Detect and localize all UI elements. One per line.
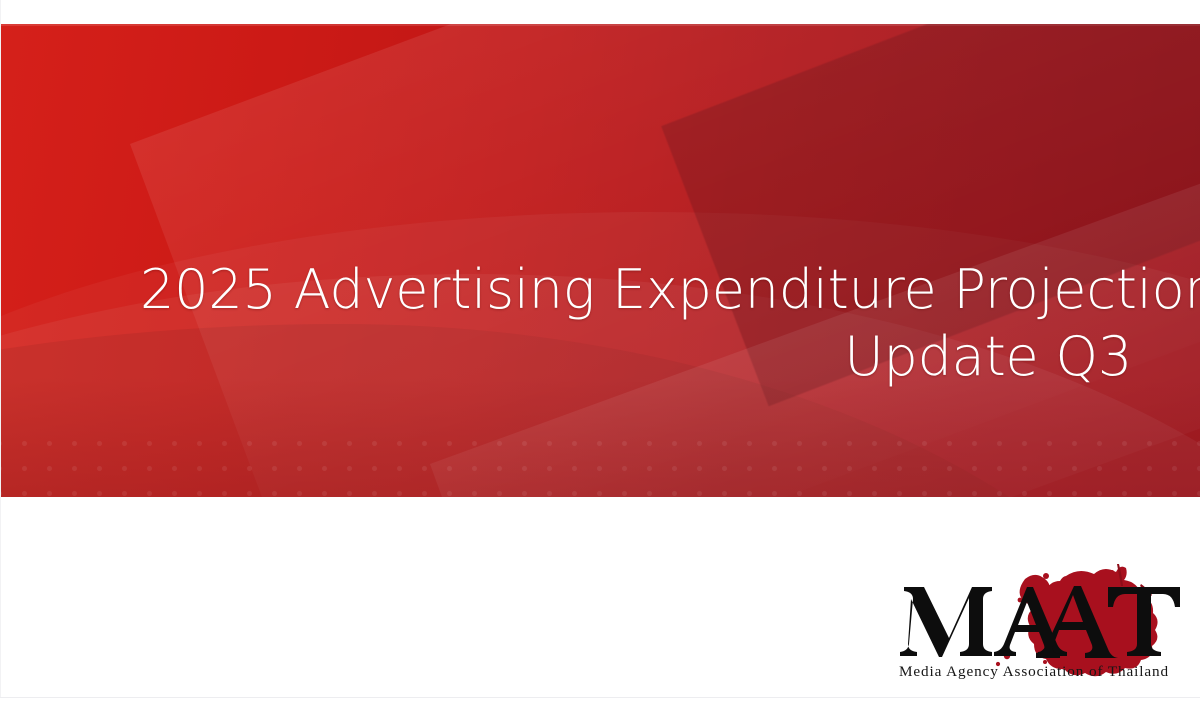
ink-splatter: [996, 564, 1158, 676]
slide-bottom-edge: [0, 697, 1200, 698]
slide-canvas: 2025 Advertising Expenditure Projection …: [0, 0, 1200, 720]
banner-dot-texture: [0, 425, 1200, 497]
slide-title: 2025 Advertising Expenditure Projection …: [140, 256, 1132, 390]
slide-title-line-1: 2025 Advertising Expenditure Projection: [140, 256, 1132, 323]
slide-title-line-2: Update Q3: [140, 323, 1132, 390]
maat-logo: Media Agency Association of Thailand: [894, 560, 1180, 682]
title-banner: 2025 Advertising Expenditure Projection …: [0, 24, 1200, 497]
logo-tagline: Media Agency Association of Thailand: [899, 663, 1169, 680]
slide-left-edge: [0, 0, 1, 697]
